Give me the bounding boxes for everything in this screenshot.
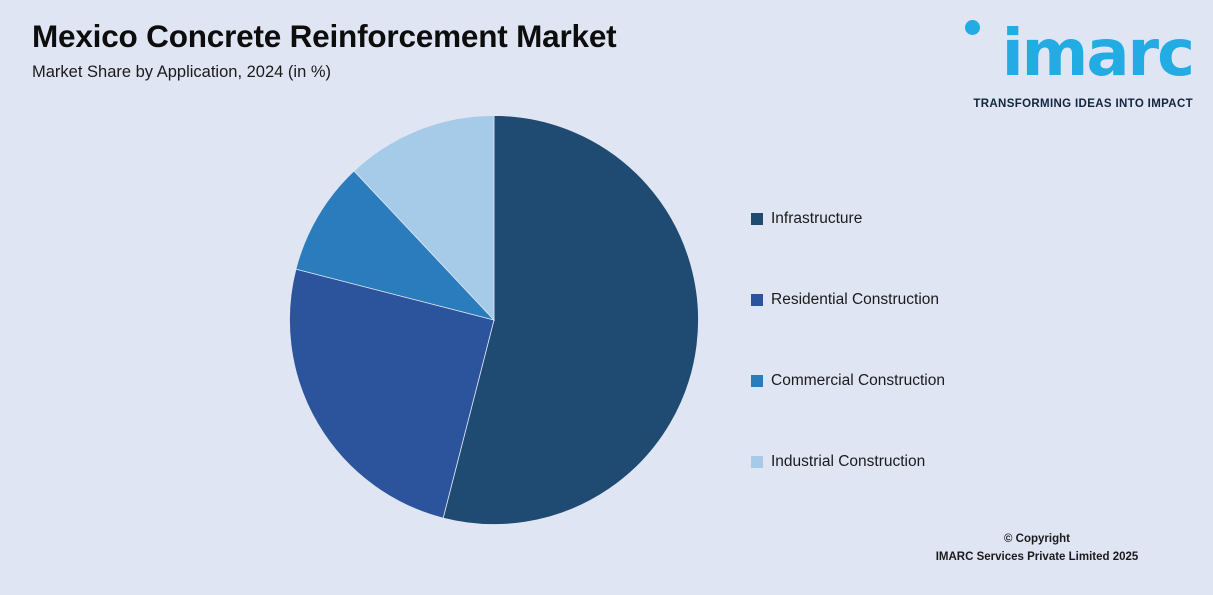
logo-tagline: TRANSFORMING IDEAS INTO IMPACT: [973, 98, 1193, 110]
copyright-line-1: © Copyright: [887, 531, 1187, 549]
legend-swatch-icon: [751, 294, 763, 306]
legend-item[interactable]: Infrastructure: [751, 178, 1171, 259]
legend-item[interactable]: Industrial Construction: [751, 421, 1171, 502]
chart-subtitle: Market Share by Application, 2024 (in %): [32, 63, 792, 83]
copyright-line-2: IMARC Services Private Limited 2025: [887, 549, 1187, 567]
legend-item-label: Residential Construction: [771, 292, 939, 308]
chart-canvas: Mexico Concrete Reinforcement Market Mar…: [0, 0, 1213, 595]
legend-item-label: Infrastructure: [771, 211, 862, 227]
legend-swatch-icon: [751, 213, 763, 225]
page-title: Mexico Concrete Reinforcement Market: [32, 18, 792, 54]
pie-chart: [289, 115, 699, 525]
imarc-logo: imarc TRANSFORMING IDEAS INTO IMPACT: [953, 16, 1193, 116]
legend-item[interactable]: Residential Construction: [751, 259, 1171, 340]
legend-item[interactable]: Commercial Construction: [751, 340, 1171, 421]
logo-mark: imarc: [953, 16, 1193, 88]
logo-dot-icon: [965, 20, 980, 35]
legend-item-label: Commercial Construction: [771, 373, 945, 389]
chart-legend: InfrastructureResidential ConstructionCo…: [751, 178, 1171, 502]
copyright-footer: © Copyright IMARC Services Private Limit…: [887, 531, 1187, 567]
pie-chart-svg: [289, 115, 699, 525]
logo-wordmark: imarc: [1002, 22, 1193, 86]
legend-swatch-icon: [751, 375, 763, 387]
chart-header: Mexico Concrete Reinforcement Market Mar…: [32, 18, 792, 83]
pie-slices: [289, 116, 698, 525]
legend-item-label: Industrial Construction: [771, 454, 925, 470]
legend-swatch-icon: [751, 456, 763, 468]
